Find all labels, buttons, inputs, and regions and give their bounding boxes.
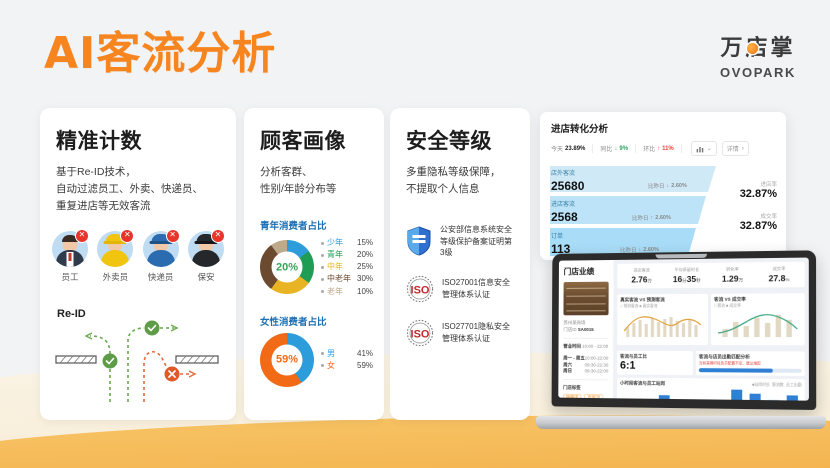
chart-female-share: 女性消费者占比 59% 男41%女59%: [260, 314, 368, 387]
card2-heading: 顾客画像: [260, 125, 368, 155]
store-dashboard-main: 进店客流 2.76万 平均停留时长 16分35秒 转化率 1.29万 成交率: [613, 258, 809, 401]
funnel-stage-outside: 店外客流 25680: [551, 168, 584, 193]
chart-female-title: 女性消费者占比: [260, 314, 368, 328]
legend-value: 59%: [357, 360, 373, 372]
peak-title: 客流与店员出勤匹配分析: [699, 354, 802, 361]
brand-logo: 万店掌 OVOPARK: [720, 30, 796, 80]
kpi-entered-traffic: 进店客流 2.76万: [619, 267, 664, 284]
rate-value: 32.87%: [740, 220, 777, 232]
reid-diagram: Re-ID: [40, 306, 236, 410]
laptop-mockup: 门店业绩 苏州某商场 门店ID SA0015 营业时间: [536, 252, 826, 427]
laptop-notch: [656, 254, 708, 259]
youth-donut-legend: 少年15%青年20%中年25%中老年30%老年10%: [321, 237, 373, 298]
rate-value: 32.87%: [740, 188, 777, 200]
female-donut-chart: 59%: [260, 333, 314, 387]
kpi-value: 2.76: [631, 274, 647, 284]
metric-mom: 环比 ↑ 11%: [643, 144, 682, 153]
hourly-bars-svg: [620, 386, 802, 400]
cert-iso27701: ISO ISO27701隐私安全 管理体系认证: [406, 319, 514, 347]
legend-item: 中年25%: [321, 261, 373, 273]
brand-dot-icon: [747, 43, 758, 54]
kpi-row: 进店客流 2.76万 平均停留时长 16分35秒 转化率 1.29万 成交率: [617, 262, 804, 289]
brand-logo-en: OVOPARK: [720, 65, 796, 80]
yoy-value: 9%: [619, 146, 628, 152]
avatar-staff: ✕ 员工: [50, 231, 90, 283]
legend-dot-icon: [321, 254, 324, 257]
stage-value: 2568: [551, 210, 578, 224]
store-photo: [563, 282, 608, 316]
card-security-level: 安全等级 多重隐私等级保障， 不提取个人信息 公安部信息系统安全 等级保护备案证…: [390, 108, 530, 420]
rate-deal: 成交率 32.87%: [740, 212, 777, 232]
cert-line1: 公安部信息系统安全: [440, 224, 514, 236]
kpi-value: 1.29: [722, 274, 739, 284]
delta-label: 比昨日: [632, 214, 649, 222]
kpi-label: 转化率: [710, 266, 756, 273]
laptop-base: [536, 416, 826, 429]
kpi-label: 平均停留时长: [664, 267, 709, 273]
chart-actual-vs-forecast: 真实客流 VS 预测客流 □ 预测客流 ■ 真实客流: [617, 294, 708, 345]
legend-item: 男41%: [321, 348, 373, 360]
metric-yoy: 同比 ↓ 9%: [600, 144, 636, 153]
mom-value: 11%: [662, 146, 674, 152]
kpi-unit: 万: [647, 278, 651, 283]
kpi-value: 27.8: [769, 273, 786, 283]
funnel-stage-entered: 进店客流 2568: [551, 199, 578, 224]
delta-value: 2.60%: [655, 215, 671, 221]
laptop-screen: 门店业绩 苏州某商场 门店ID SA0015 营业时间: [558, 258, 809, 401]
exclude-badge-icon: ✕: [211, 229, 225, 243]
detail-button[interactable]: 详情 ›: [722, 141, 749, 156]
card2-body: 分析客群、 性别/年龄分布等: [260, 164, 368, 198]
chart-title: 真实客流 VS 预测客流: [620, 297, 705, 303]
store-sidebar: 门店业绩 苏州某商场 门店ID SA0015 营业时间: [558, 260, 613, 398]
exclude-badge-icon: ✕: [166, 229, 180, 243]
peak-note: 当前高峰时段店员配置不足，建议增配: [699, 361, 802, 367]
delta-arrow-icon: ↓: [667, 183, 670, 189]
legend-label: 中老年: [327, 273, 354, 285]
cert-iso27001: ISO ISO27001信息安全 管理体系认证: [406, 275, 514, 303]
avatar-courier: ✕ 快递员: [141, 231, 181, 283]
avatar-food-delivery: ✕ 外卖员: [95, 231, 135, 283]
peak-match-card: 客流与店员出勤匹配分析 当前高峰时段店员配置不足，建议增配: [696, 351, 805, 376]
kpi-label: 进店客流: [619, 267, 664, 273]
chart-youth-share: 青年消费者占比 20% 少年15%青年20%中年25%中老年30%老年10%: [260, 218, 368, 298]
kpi-label: 成交率: [756, 266, 803, 273]
legend-dot-icon: [321, 278, 324, 281]
page-title: AI客流分析: [44, 32, 276, 76]
delta-arrow-icon: ↑: [651, 215, 654, 221]
chevron-down-icon: ⌄: [707, 145, 712, 152]
avatar-label: 外卖员: [95, 271, 135, 283]
legend-item: 老年10%: [321, 286, 373, 298]
card3-body: 多重隐私等级保障， 不提取个人信息: [406, 164, 514, 198]
slide-canvas: AI客流分析 万店掌 OVOPARK 精准计数 基于Re-ID技术， 自动过滤员…: [0, 0, 830, 468]
avatar-label: 员工: [50, 271, 90, 283]
chart-title: 客流 VS 成交率: [714, 296, 802, 303]
bar-chart-icon: [696, 145, 704, 153]
yoy-arrow-icon: ↓: [614, 146, 617, 152]
stage-name: 店外客流: [551, 168, 575, 177]
kpi-unit: %: [785, 277, 789, 282]
reid-paths-svg: [40, 306, 236, 410]
ratio-value: 6:1: [620, 360, 690, 372]
legend-dot-icon: [321, 266, 324, 269]
reid-label: Re-ID: [57, 308, 86, 320]
store-tag: 旗舰店: [563, 394, 581, 401]
mom-arrow-icon: ↑: [657, 146, 660, 152]
legend-dot-icon: [321, 352, 324, 355]
legend-value: 41%: [357, 348, 373, 360]
chart-svg: [620, 309, 705, 337]
shield-icon: [406, 226, 432, 256]
chart-svg: [714, 309, 802, 338]
store-name-row: 苏州某商场 门店ID SA0015: [563, 320, 608, 334]
store-tags: 门店标签 旗舰店 高客流: [563, 385, 608, 400]
legend-dot-icon: [321, 290, 324, 293]
legend-dot-icon: [321, 364, 324, 367]
cert-mps-grade3: 公安部信息系统安全 等级保护备案证明第3级: [406, 224, 514, 259]
store-code-label: 门店ID: [563, 327, 576, 332]
legend-label: 老年: [327, 286, 354, 298]
today-value: 23.89%: [565, 146, 585, 152]
legend-value: 10%: [357, 286, 373, 298]
youth-donut-center: 20%: [276, 261, 298, 273]
stage-value: 25680: [551, 179, 584, 193]
legend-item: 女59%: [321, 360, 373, 372]
hourly-bar-card: 小时段客流与员工站岗 ■站岗时长 客流数 员工出勤 09:0010:0011:0…: [617, 378, 805, 401]
kpi-deal-rate: 成交率 27.8%: [756, 266, 803, 284]
detail-label: 详情: [727, 144, 739, 153]
cert-line2: 等级保护备案证明第3级: [440, 236, 514, 259]
kpi-unit2: 秒: [696, 278, 700, 283]
tag-title: 门店标签: [563, 385, 581, 390]
cert-text: 公安部信息系统安全 等级保护备案证明第3级: [440, 224, 514, 259]
store-name: 苏州某商场: [563, 320, 608, 327]
ratio-card: 客流与员工比 6:1: [617, 351, 693, 375]
chart-type-button[interactable]: ⌄: [691, 141, 717, 156]
legend-label: 中年: [327, 261, 354, 273]
chevron-right-icon: ›: [742, 146, 744, 152]
peak-progress-bar: [699, 368, 802, 373]
stage-name: 进店客流: [551, 199, 575, 208]
laptop-lid: 门店业绩 苏州某商场 门店ID SA0015 营业时间: [552, 250, 817, 410]
legend-label: 女: [327, 360, 354, 372]
female-donut-legend: 男41%女59%: [321, 348, 373, 372]
svg-text:ISO: ISO: [411, 328, 430, 340]
legend-item: 青年20%: [321, 249, 373, 261]
chart-youth-title: 青年消费者占比: [260, 218, 368, 232]
conversion-funnel: 店外客流 25680 比昨日 ↓ 2.60% 进店客流 2568 比昨日 ↑ 2…: [540, 164, 786, 258]
exclude-badge-icon: ✕: [120, 229, 134, 243]
cert-text: ISO27001信息安全 管理体系认证: [442, 277, 510, 300]
brand-logo-cn: 万店掌: [721, 30, 796, 62]
card3-heading: 安全等级: [406, 125, 514, 155]
card1-heading: 精准计数: [56, 125, 220, 155]
exclude-badge-icon: ✕: [75, 229, 89, 243]
store-tag: 高客流: [585, 394, 604, 400]
today-label: 今天: [551, 144, 563, 153]
mom-label: 环比: [643, 144, 655, 153]
legend-label: 男: [327, 348, 354, 360]
kpi-value2: 35: [687, 274, 696, 284]
hours-label: 营业时间: [563, 343, 581, 348]
funnel-delta-entered: 比昨日 ↑ 2.60%: [632, 214, 671, 222]
youth-donut-chart: 20%: [260, 240, 314, 294]
excluded-person-types: ✕ 员工 ✕ 外卖员: [40, 231, 236, 283]
svg-text:ISO: ISO: [411, 284, 430, 296]
cert-line2: 管理体系认证: [442, 333, 510, 345]
legend-label: 青年: [327, 249, 354, 261]
avatar-security: ✕ 保安: [186, 231, 226, 283]
legend-item: 中老年30%: [321, 273, 373, 285]
conversion-analysis-panel: 进店转化分析 今天 23.89% 同比 ↓ 9% 环比 ↑ 11%: [540, 112, 786, 260]
rate-label: 成交率: [740, 212, 777, 220]
legend-value: 20%: [357, 249, 373, 261]
funnel-delta-outside: 比昨日 ↓ 2.60%: [648, 182, 687, 190]
metric-today: 今天 23.89%: [551, 144, 593, 153]
delta-value: 2.60%: [671, 183, 687, 189]
panel-title: 进店转化分析: [540, 112, 786, 135]
hours-value: 10:00 - 22:00: [582, 344, 608, 349]
chart-traffic-vs-dealrate: 客流 VS 成交率 □ 客流 ■ 成交率: [711, 293, 805, 345]
stage-name: 订单: [551, 231, 563, 240]
kpi-conversion: 转化率 1.29万: [709, 266, 755, 284]
card-customer-profile: 顾客画像 分析客群、 性别/年龄分布等 青年消费者占比 20% 少年15%青年2…: [244, 108, 384, 420]
iso-seal-icon: ISO: [406, 275, 434, 303]
card-precise-counting: 精准计数 基于Re-ID技术， 自动过滤员工、外卖、快递员、 重复进店等无效客流…: [40, 108, 236, 420]
rate-label: 进店率: [740, 180, 777, 188]
card1-body: 基于Re-ID技术， 自动过滤员工、外卖、快递员、 重复进店等无效客流: [56, 164, 220, 215]
legend-value: 15%: [357, 237, 373, 249]
hours-detail-rows: 周一 - 周五 10:00-22:00 周六 09:30-22:30 周日 09…: [563, 355, 608, 376]
cert-line2: 管理体系认证: [442, 289, 510, 301]
kpi-value: 16: [673, 274, 682, 284]
kpi-unit: 万: [739, 278, 744, 283]
panel-toolbar: 今天 23.89% 同比 ↓ 9% 环比 ↑ 11% ⌄: [540, 135, 786, 156]
female-donut-center: 59%: [276, 354, 298, 366]
store-hours-row: 营业时间 10:00 - 22:00: [563, 343, 608, 350]
legend-label: 少年: [327, 237, 354, 249]
cert-text: ISO27701隐私安全 管理体系认证: [442, 321, 510, 344]
store-panel-title: 门店业绩: [564, 266, 609, 277]
cert-line1: ISO27001信息安全: [442, 277, 510, 289]
iso-seal-icon: ISO: [406, 319, 434, 347]
avatar-label: 保安: [186, 271, 226, 283]
avatar-label: 快递员: [141, 271, 181, 283]
legend-value: 30%: [357, 273, 373, 285]
legend-value: 25%: [357, 261, 373, 273]
store-code-value: SA0015: [578, 327, 594, 332]
kpi-avg-dwell: 平均停留时长 16分35秒: [664, 267, 709, 284]
rate-entry: 进店率 32.87%: [740, 180, 777, 200]
delta-label: 比昨日: [648, 182, 665, 190]
legend-item: 少年15%: [321, 237, 373, 249]
hours-row: 周日 09:30-22:00: [563, 369, 608, 376]
cert-line1: ISO27701隐私安全: [442, 321, 510, 333]
yoy-label: 同比: [600, 144, 612, 153]
legend-dot-icon: [321, 242, 324, 245]
hours-row-label: 周日: [563, 369, 572, 376]
hours-row-value: 09:30-22:00: [585, 369, 609, 376]
